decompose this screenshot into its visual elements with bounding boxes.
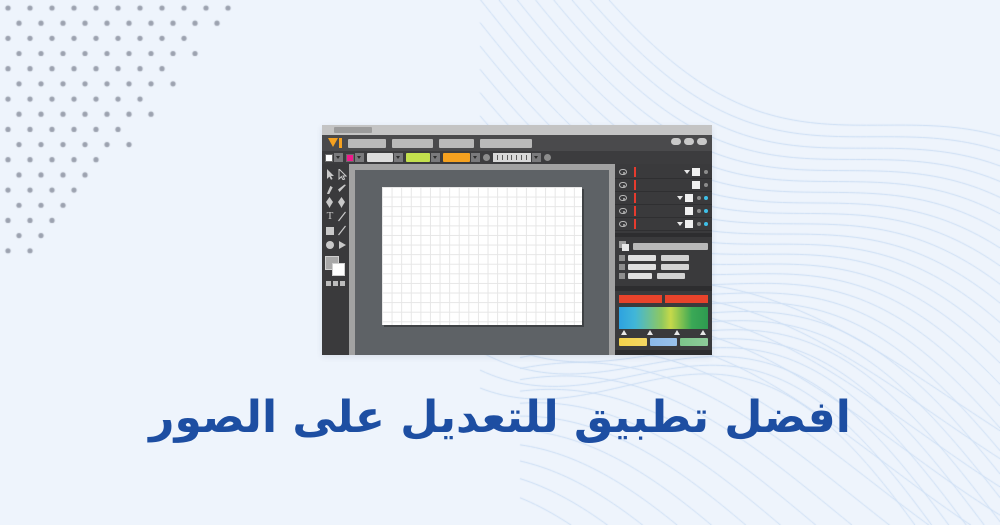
layer-row[interactable] xyxy=(615,192,712,205)
layer-status-dots[interactable] xyxy=(704,183,708,187)
layer-row[interactable] xyxy=(615,166,712,179)
menu-item-3[interactable] xyxy=(480,139,532,148)
toolbox-panel: T xyxy=(322,164,349,355)
chevron-down-icon[interactable] xyxy=(471,153,480,162)
eye-icon[interactable] xyxy=(619,169,627,175)
type-tool[interactable]: T xyxy=(325,211,335,222)
canvas-outer-area xyxy=(349,164,615,355)
properties-row[interactable] xyxy=(619,264,708,270)
stroke-weight-field-box[interactable] xyxy=(367,153,393,162)
brush-definition-field-box[interactable] xyxy=(406,153,430,162)
layer-status-dots[interactable] xyxy=(697,209,708,213)
property-icon xyxy=(619,255,625,261)
property-value-field[interactable] xyxy=(628,264,656,270)
pen-tool[interactable] xyxy=(325,197,335,208)
layer-row[interactable] xyxy=(615,179,712,192)
chevron-down-icon[interactable] xyxy=(677,222,683,226)
opacity-field-box[interactable] xyxy=(443,153,470,162)
layer-thumbnail[interactable] xyxy=(685,194,693,202)
property-value-field[interactable] xyxy=(628,255,656,261)
color-swatches xyxy=(619,338,708,346)
property-value-field[interactable] xyxy=(657,273,685,279)
chevron-down-icon[interactable] xyxy=(684,170,690,174)
artboard-grid[interactable] xyxy=(382,187,582,325)
eye-icon[interactable] xyxy=(619,221,627,227)
menu-item-0[interactable] xyxy=(348,139,386,148)
minimize-button[interactable] xyxy=(671,138,681,145)
rectangle-tool[interactable] xyxy=(325,225,335,236)
gradient-ramp[interactable] xyxy=(619,307,708,329)
gradient-stop[interactable] xyxy=(647,330,653,335)
stroke-swatch[interactable] xyxy=(332,263,345,276)
properties-row[interactable] xyxy=(619,273,708,279)
layer-thumbnail[interactable] xyxy=(692,168,700,176)
layer-thumbnail[interactable] xyxy=(692,181,700,189)
window-controls xyxy=(671,138,707,145)
gradient-stop[interactable] xyxy=(621,330,627,335)
paintbrush-tool[interactable] xyxy=(337,225,347,236)
color-mode-swatches xyxy=(325,281,346,286)
opacity-field[interactable] xyxy=(443,153,480,162)
window-body: T xyxy=(322,164,712,355)
chevron-down-icon[interactable] xyxy=(334,153,343,162)
document-icon xyxy=(619,241,629,251)
stroke-color-swatch[interactable] xyxy=(346,153,364,162)
property-value-field[interactable] xyxy=(628,273,652,279)
layer-thumbnail[interactable] xyxy=(685,220,693,228)
stroke-color-swatch-chip[interactable] xyxy=(346,154,354,162)
gradient-stop[interactable] xyxy=(674,330,680,335)
magic-wand-tool[interactable] xyxy=(325,183,335,194)
color-swatch-2[interactable] xyxy=(680,338,708,346)
color-mode-gradient[interactable] xyxy=(333,281,338,286)
property-value-field[interactable] xyxy=(661,264,689,270)
color-swatch-0[interactable] xyxy=(619,338,647,346)
property-icon xyxy=(619,273,625,279)
layer-status-dots[interactable] xyxy=(697,196,708,200)
maximize-button[interactable] xyxy=(684,138,694,145)
color-mode-none[interactable] xyxy=(340,281,345,286)
line-segment-tool[interactable] xyxy=(337,211,347,222)
tool-grid: T xyxy=(325,169,346,250)
gradient-preset-1[interactable] xyxy=(665,295,708,303)
style-circle-button-chip[interactable] xyxy=(483,154,490,161)
canvas-workspace[interactable] xyxy=(355,170,609,355)
color-swatch-1[interactable] xyxy=(650,338,678,346)
color-mode-color[interactable] xyxy=(326,281,331,286)
stroke-weight-field[interactable] xyxy=(367,153,403,162)
align-circle-button[interactable] xyxy=(544,154,551,161)
menu-item-1[interactable] xyxy=(392,139,433,148)
fill-color-swatch-chip[interactable] xyxy=(325,154,333,162)
chevron-down-icon[interactable] xyxy=(355,153,364,162)
gradient-preset-0[interactable] xyxy=(619,295,662,303)
property-value-field[interactable] xyxy=(661,255,689,261)
fill-stroke-swatches[interactable] xyxy=(325,256,346,276)
chevron-down-icon[interactable] xyxy=(532,153,541,162)
app-window: T xyxy=(322,125,712,355)
document-tab[interactable] xyxy=(334,127,372,133)
chevron-down-icon[interactable] xyxy=(431,153,440,162)
style-circle-button[interactable] xyxy=(483,154,490,161)
chevron-down-icon[interactable] xyxy=(394,153,403,162)
layer-row[interactable] xyxy=(615,205,712,218)
lasso-tool[interactable] xyxy=(337,183,347,194)
eye-icon[interactable] xyxy=(619,182,627,188)
page-title: افضل تطبيق للتعديل على الصور xyxy=(0,392,1000,443)
direct-selection-tool[interactable] xyxy=(337,169,347,180)
properties-header xyxy=(619,241,708,251)
layer-thumbnail[interactable] xyxy=(685,207,693,215)
selection-tool[interactable] xyxy=(325,169,335,180)
gradient-stop[interactable] xyxy=(700,330,706,335)
brush-definition-field[interactable] xyxy=(406,153,440,162)
illustrator-logo-icon xyxy=(328,138,342,149)
document-tab-strip xyxy=(322,125,712,135)
property-icon xyxy=(619,264,625,270)
options-bar xyxy=(322,151,712,164)
dash-pattern-field-box[interactable] xyxy=(493,153,531,162)
layers-panel xyxy=(615,164,712,233)
menu-item-2[interactable] xyxy=(439,139,474,148)
layer-status-dots[interactable] xyxy=(704,170,708,174)
close-button[interactable] xyxy=(697,138,707,145)
ellipse-tool[interactable] xyxy=(325,239,335,250)
dash-pattern-field[interactable] xyxy=(493,153,541,162)
gradient-preset-bars xyxy=(619,295,708,303)
eye-icon[interactable] xyxy=(619,195,627,201)
properties-title-field[interactable] xyxy=(633,243,708,250)
curvature-tool[interactable] xyxy=(337,197,347,208)
layer-status-dots[interactable] xyxy=(697,222,708,226)
gradient-stops[interactable] xyxy=(619,329,708,335)
properties-panel xyxy=(615,237,712,286)
fill-color-swatch[interactable] xyxy=(325,153,343,162)
align-circle-button-chip[interactable] xyxy=(544,154,551,161)
right-panel-dock xyxy=(615,164,712,355)
layer-row[interactable] xyxy=(615,218,712,231)
shape-builder-tool[interactable] xyxy=(337,239,347,250)
menu-bar xyxy=(322,135,712,151)
gradient-panel xyxy=(615,291,712,350)
chevron-down-icon[interactable] xyxy=(677,196,683,200)
eye-icon[interactable] xyxy=(619,208,627,214)
properties-row[interactable] xyxy=(619,255,708,261)
